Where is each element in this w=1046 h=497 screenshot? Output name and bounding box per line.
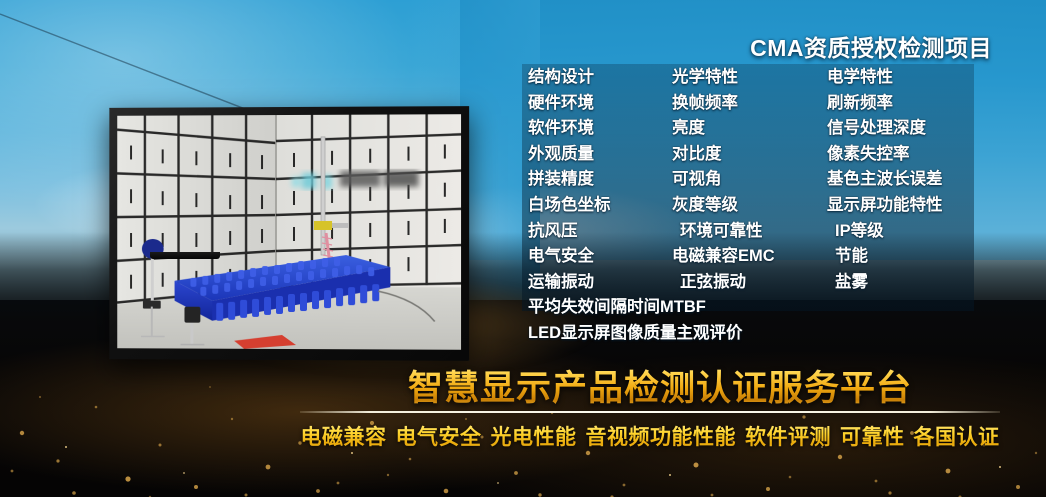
item-grayscale-level: 灰度等级: [672, 193, 775, 219]
service-reliability: 可靠性: [840, 426, 905, 449]
item-signal-processing-depth: 信号处理深度: [827, 116, 943, 142]
monitor-screen: [117, 114, 461, 350]
service-software-testing: 软件评测: [745, 426, 831, 449]
panel-title: CMA资质授权检测项目: [520, 29, 992, 63]
item-refresh-rate: 刷新频率: [827, 91, 943, 117]
service-av-function: 音视频功能性能: [586, 426, 737, 449]
detection-items-columns: 结构设计 硬件环境 软件环境 外观质量 拼装精度 白场色坐标 抗风压 电气安全 …: [522, 65, 1022, 355]
main-headline: 智慧显示产品检测认证服务平台: [300, 360, 1020, 411]
items-column-3: 电学特性 刷新频率 信号处理深度 像素失控率 基色主波长误差 显示屏功能特性 I…: [827, 65, 943, 295]
service-emc: 电磁兼容: [301, 426, 387, 449]
item-frame-rate: 换帧频率: [672, 91, 775, 117]
item-salt-spray: 盐雾: [827, 270, 943, 296]
gold-divider: [300, 411, 1000, 413]
item-electrical-characteristics: 电学特性: [827, 65, 943, 91]
items-column-2: 光学特性 换帧频率 亮度 对比度 可视角 灰度等级 环境可靠性 电磁兼容EMC …: [672, 65, 775, 295]
display-monitor: [109, 106, 469, 361]
item-contrast-ratio: 对比度: [672, 142, 775, 168]
item-display-function-characteristics: 显示屏功能特性: [827, 193, 943, 219]
item-ip-rating: IP等级: [827, 219, 943, 245]
promotional-banner: CMA资质授权检测项目 结构设计 硬件环境 软件环境 外观质量 拼装精度 白场色…: [0, 0, 1046, 497]
item-pixel-failure-rate: 像素失控率: [827, 142, 943, 168]
item-environmental-reliability: 环境可靠性: [672, 219, 775, 245]
item-sine-vibration: 正弦振动: [672, 270, 775, 296]
item-brightness: 亮度: [672, 116, 775, 142]
service-list: 电磁兼容电气安全光电性能音视频功能性能软件评测可靠性各国认证: [300, 421, 1000, 451]
item-led-subjective-evaluation: LED显示屏图像质量主观评价: [528, 321, 743, 347]
item-optical-characteristics: 光学特性: [672, 65, 775, 91]
blurred-logo: [292, 171, 419, 189]
item-mtbf: 平均失效间隔时间MTBF: [528, 295, 743, 321]
item-emc: 电磁兼容EMC: [672, 244, 775, 270]
service-electrical-safety: 电气安全: [396, 426, 482, 449]
item-viewing-angle: 可视角: [672, 167, 775, 193]
monitor-stand: [150, 252, 220, 259]
item-energy-saving: 节能: [827, 244, 943, 270]
item-primary-wavelength-error: 基色主波长误差: [827, 167, 943, 193]
service-photoelectric: 光电性能: [491, 426, 577, 449]
service-certification: 各国认证: [914, 426, 1000, 449]
